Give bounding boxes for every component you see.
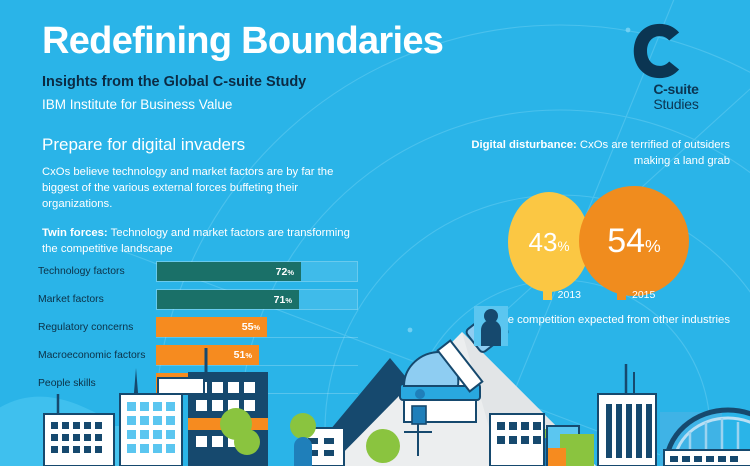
circle-2013: 43%	[508, 192, 590, 292]
section-heading-prepare: Prepare for digital invaders	[42, 136, 362, 155]
orange-sign	[548, 448, 566, 466]
legend-label: 2015	[632, 289, 655, 301]
bar-label: Market factors	[38, 294, 156, 306]
circle-value-2013: 43%	[529, 229, 570, 255]
legend-swatch-icon	[617, 291, 626, 300]
logo-line-1: C-suite	[630, 82, 722, 97]
twin-forces-label: Twin forces:	[42, 227, 108, 239]
section-body-text: CxOs believe technology and market facto…	[42, 164, 362, 212]
bar-fill: 72%	[157, 262, 301, 281]
legend-swatch-icon	[543, 291, 552, 300]
bar-track: 72%	[156, 261, 358, 282]
observatory-door	[412, 406, 426, 424]
bar-value-label: 72%	[276, 266, 301, 278]
digital-disturbance-text: CxOs are terrified of outsiders making a…	[577, 139, 730, 167]
page-title: Redefining Boundaries	[42, 22, 512, 60]
circle-2015: 54%	[579, 186, 689, 296]
digital-disturbance-caption: Digital disturbance: CxOs are terrified …	[462, 138, 730, 170]
digital-disturbance-label: Digital disturbance:	[471, 139, 576, 151]
twin-forces-caption: Twin forces: Technology and market facto…	[42, 225, 362, 257]
bar-value-label: 71%	[274, 294, 299, 306]
office-buildings-right	[490, 364, 750, 466]
organization-name: IBM Institute for Business Value	[42, 97, 512, 113]
letter-c-icon	[630, 22, 686, 80]
c-suite-studies-logo: C-suite Studies	[630, 22, 722, 111]
infographic-poster: Redefining Boundaries Insights from the …	[0, 0, 750, 466]
poster-header: Redefining Boundaries Insights from the …	[42, 22, 512, 114]
right-column-lead: Digital disturbance: CxOs are terrified …	[462, 138, 730, 170]
page-subtitle: Insights from the Global C-suite Study	[42, 74, 512, 91]
logo-line-2: Studies	[630, 97, 722, 112]
person-on-building	[474, 306, 508, 346]
city-skyline-illustration	[0, 306, 750, 466]
legend-label: 2013	[558, 289, 581, 301]
bar-label: Technology factors	[38, 266, 156, 278]
circle-value-2015: 54%	[607, 224, 661, 258]
competition-circles-chart: 43% 54%	[484, 186, 714, 296]
table-row: Technology factors 72%	[38, 258, 358, 285]
legend-item-2015: 2015	[617, 289, 655, 301]
left-column: Prepare for digital invaders CxOs believ…	[42, 136, 362, 257]
legend-item-2013: 2013	[543, 289, 581, 301]
chart-legend: 2013 2015	[484, 289, 714, 301]
observatory-porthole	[415, 389, 425, 399]
